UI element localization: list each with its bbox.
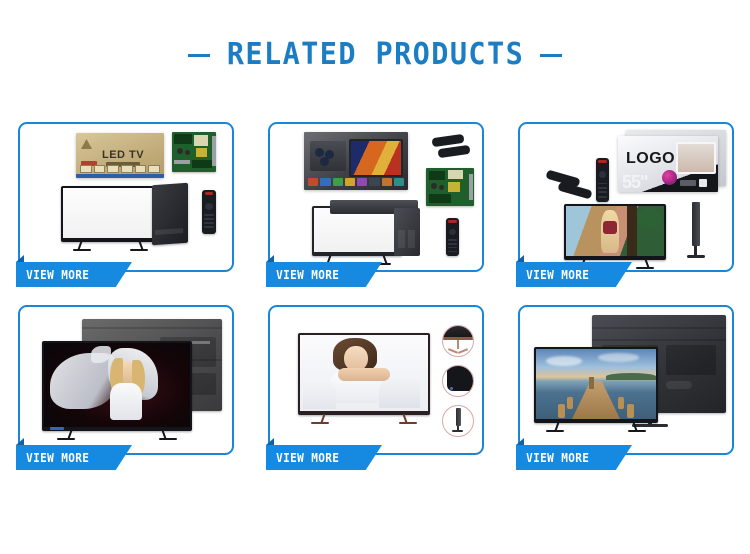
banner-fold-icon [266,255,274,262]
tv-rear-block [394,208,420,256]
related-products-page: RELATED PRODUCTS LED TV [0,0,750,554]
page-title-text: RELATED PRODUCTS [226,40,523,70]
view-more-button-1[interactable]: VIEW MORE [16,262,132,287]
page-title: RELATED PRODUCTS [0,40,750,70]
box-brand-label: LED TV [102,149,144,161]
detail-thumb-corner [442,365,474,397]
view-more-label: VIEW MORE [16,451,89,465]
tv-rear-foot [632,424,668,427]
tv-remote-control [596,158,609,202]
title-dash-right-icon [540,54,562,57]
product-card-6-artwork [520,307,732,453]
two-remote-controls [432,136,472,158]
pcb-main-board [426,168,474,206]
box-logo-label: LOGO [626,150,675,168]
view-more-button-3[interactable]: VIEW MORE [516,262,632,287]
banner-fold-icon [16,255,24,262]
view-more-banner-1[interactable]: VIEW MORE [16,262,132,287]
detail-thumb-profile [442,405,474,437]
flat-screen-tv-model [564,204,666,260]
banner-fold-icon [266,438,274,445]
banner-fold-icon [516,438,524,445]
tv-carton-box [304,132,408,190]
view-more-button-5[interactable]: VIEW MORE [266,445,382,470]
view-more-label: VIEW MORE [516,451,589,465]
product-card-6[interactable]: VIEW MORE [518,305,734,455]
title-dash-left-icon [188,54,210,57]
product-card-4[interactable]: VIEW MORE [18,305,234,455]
flat-screen-tv-woman [298,333,430,415]
view-more-label: VIEW MORE [266,451,339,465]
flat-screen-tv-pier [534,347,658,423]
view-more-label: VIEW MORE [266,268,339,282]
product-card-4-artwork [20,307,232,453]
tv-remote-control [202,190,216,234]
view-more-banner-4[interactable]: VIEW MORE [16,445,132,470]
logo-carton-box: LOGO 55" [618,136,718,192]
product-card-1-artwork: LED TV [20,124,232,270]
box-logo-icon [81,139,92,149]
detail-thumb-stand [442,325,474,357]
view-more-label: VIEW MORE [516,268,589,282]
box-size-label: 55" [622,172,648,192]
pcb-main-board [172,132,216,172]
banner-fold-icon [16,438,24,445]
tv-angled-side-view [152,183,188,246]
view-more-button-2[interactable]: VIEW MORE [266,262,382,287]
box-icon-row [76,165,164,173]
product-card-5[interactable]: VIEW MORE [268,305,484,455]
product-card-grid: LED TV [18,122,734,455]
box-bottom-stripe [76,174,164,178]
tv-remote-control [446,218,459,256]
view-more-banner-6[interactable]: VIEW MORE [516,445,632,470]
product-card-2[interactable]: VIEW MORE [268,122,484,272]
flat-screen-tv-angel [42,341,192,431]
tv-brand-badge [50,427,64,430]
view-more-button-6[interactable]: VIEW MORE [516,445,632,470]
view-more-banner-2[interactable]: VIEW MORE [266,262,382,287]
view-more-label: VIEW MORE [16,268,89,282]
led-tv-carton-box: LED TV [76,133,164,178]
product-card-3-artwork: LOGO 55" [520,124,732,270]
view-more-banner-5[interactable]: VIEW MORE [266,445,382,470]
view-more-button-4[interactable]: VIEW MORE [16,445,132,470]
product-card-3[interactable]: LOGO 55" [518,122,734,272]
flat-screen-tv [61,186,160,242]
product-card-1[interactable]: LED TV [18,122,234,272]
two-remote-controls [546,172,594,202]
tv-side-profile [686,202,706,258]
view-more-banner-3[interactable]: VIEW MORE [516,262,632,287]
banner-fold-icon [516,255,524,262]
product-card-5-artwork [270,307,482,453]
product-card-2-artwork [270,124,482,270]
